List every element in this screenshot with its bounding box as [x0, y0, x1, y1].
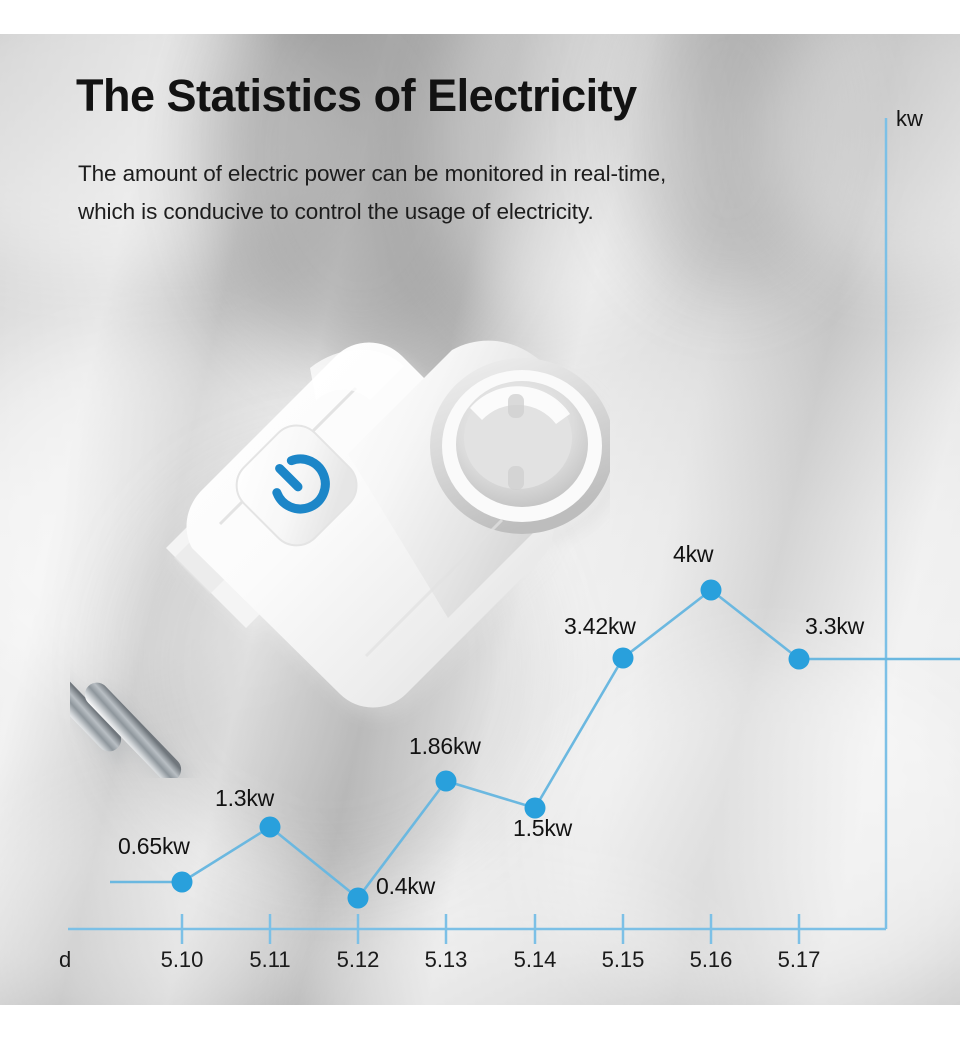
- chart-x-label: 5.14: [493, 947, 577, 973]
- chart-point-label: 1.5kw: [513, 815, 572, 842]
- chart-y-axis-unit: kw: [896, 106, 923, 132]
- page-title: The Statistics of Electricity: [76, 70, 637, 122]
- chart-x-label: 5.15: [581, 947, 665, 973]
- chart-point-label: 0.4kw: [376, 873, 435, 900]
- chart-x-label: 5.11: [228, 947, 312, 973]
- plug-body-group: [70, 341, 610, 778]
- chart-x-axis-unit: d: [59, 947, 71, 973]
- smart-plug-product-image: [70, 248, 610, 778]
- promo-page: The Statistics of Electricity The amount…: [0, 0, 960, 1062]
- background-highlight: [300, 874, 720, 1005]
- chart-x-label: 5.17: [757, 947, 841, 973]
- chart-point-label: 1.86kw: [409, 733, 481, 760]
- chart-point-label: 1.3kw: [215, 785, 274, 812]
- chart-point-label: 4kw: [673, 541, 713, 568]
- chart-x-label: 5.10: [140, 947, 224, 973]
- chart-point-label: 3.3kw: [805, 613, 864, 640]
- background-highlight: [0, 794, 320, 1005]
- chart-x-label: 5.13: [404, 947, 488, 973]
- background-highlight: [760, 34, 960, 284]
- chart-x-label: 5.16: [669, 947, 753, 973]
- chart-point-label: 0.65kw: [118, 833, 190, 860]
- subtitle-line-1: The amount of electric power can be moni…: [78, 161, 666, 187]
- plug-pins: [70, 648, 186, 778]
- subtitle-line-2: which is conducive to control the usage …: [78, 199, 594, 225]
- chart-x-label: 5.12: [316, 947, 400, 973]
- chart-point-label: 3.42kw: [564, 613, 636, 640]
